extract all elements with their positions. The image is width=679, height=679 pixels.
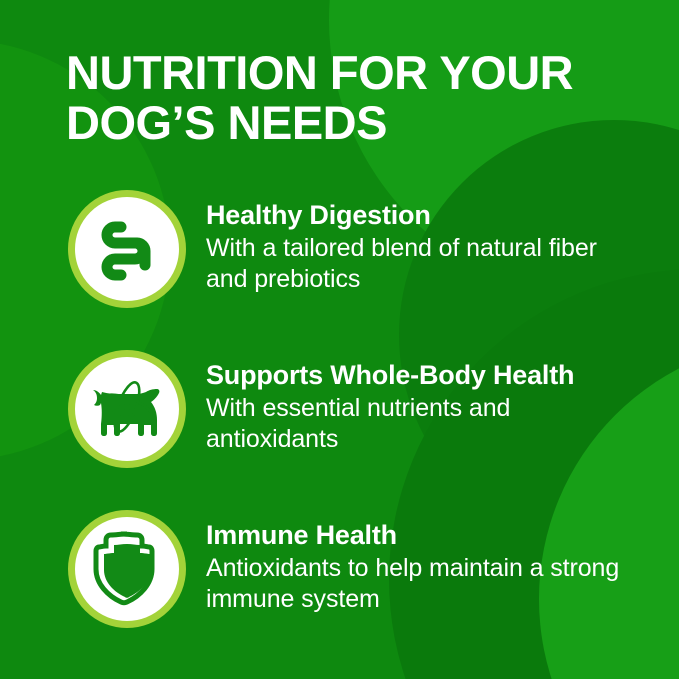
benefit-description: Antioxidants to help maintain a strong i… — [206, 553, 636, 615]
benefit-text: Immune Health Antioxidants to help maint… — [186, 510, 679, 615]
shield-icon — [68, 510, 186, 628]
list-item: Healthy Digestion With a tailored blend … — [0, 190, 679, 312]
benefit-text: Supports Whole-Body Health With essentia… — [186, 350, 679, 455]
benefit-title: Supports Whole-Body Health — [206, 360, 679, 391]
list-item: Supports Whole-Body Health With essentia… — [0, 350, 679, 472]
intestine-icon — [68, 190, 186, 308]
list-item: Immune Health Antioxidants to help maint… — [0, 510, 679, 632]
page-title: Nutrition For Your Dog’s Needs — [66, 48, 626, 148]
nutrition-benefits-panel: Nutrition For Your Dog’s Needs Healthy D… — [0, 0, 679, 679]
panel-content: Nutrition For Your Dog’s Needs Healthy D… — [0, 0, 679, 679]
benefit-description: With essential nutrients and antioxidant… — [206, 393, 636, 455]
benefit-title: Healthy Digestion — [206, 200, 679, 231]
benefit-list: Healthy Digestion With a tailored blend … — [0, 190, 679, 670]
benefit-text: Healthy Digestion With a tailored blend … — [186, 190, 679, 295]
benefit-description: With a tailored blend of natural fiber a… — [206, 233, 636, 295]
benefit-title: Immune Health — [206, 520, 679, 551]
dog-atom-icon — [68, 350, 186, 468]
